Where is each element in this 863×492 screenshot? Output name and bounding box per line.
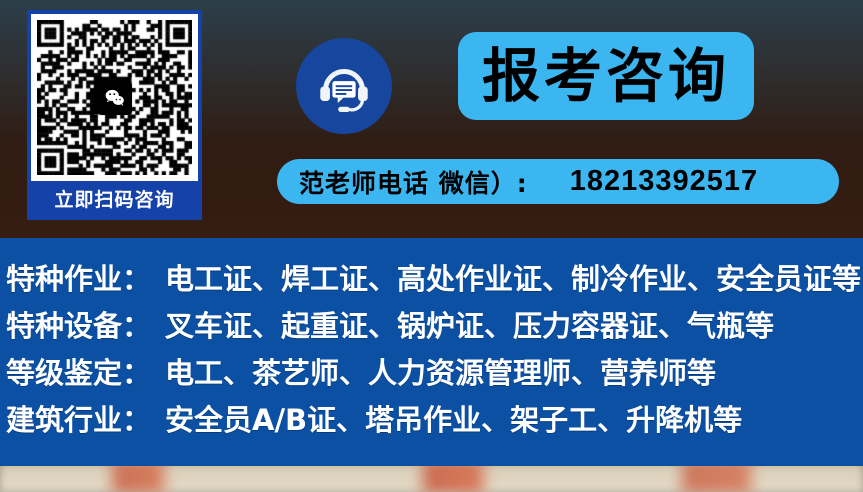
promo-poster: 立即扫码咨询 报考咨询 范老师电话 微信）: 18213392517 xyxy=(0,0,863,492)
category-row-special-equipment: 特种设备： 叉车证、起重证、锅炉证、压力容器证、气瓶等 xyxy=(6,303,857,350)
category-label: 等级鉴定： xyxy=(6,350,151,392)
category-label: 特种设备： xyxy=(6,303,151,345)
category-label: 建筑行业： xyxy=(6,397,151,439)
category-items: 电工证、焊工证、高处作业证、制冷作业、安全员证等 xyxy=(165,256,861,298)
category-row-special-operations: 特种作业： 电工证、焊工证、高处作业证、制冷作业、安全员证等 xyxy=(6,256,857,303)
certification-categories-panel: 特种作业： 电工证、焊工证、高处作业证、制冷作业、安全员证等 特种设备： 叉车证… xyxy=(0,238,863,466)
category-row-grade-appraisal: 等级鉴定： 电工、茶艺师、人力资源管理师、营养师等 xyxy=(6,350,857,397)
page-title-banner: 报考咨询 xyxy=(458,32,754,120)
contact-banner[interactable]: 范老师电话 微信）: 18213392517 xyxy=(277,159,839,204)
contact-phone-number[interactable]: 18213392517 xyxy=(570,165,758,198)
wechat-icon xyxy=(98,81,132,115)
category-items: 电工、茶艺师、人力资源管理师、营养师等 xyxy=(165,350,716,392)
category-items: 叉车证、起重证、锅炉证、压力容器证、气瓶等 xyxy=(165,303,774,345)
category-label: 特种作业： xyxy=(6,256,151,298)
page-title: 报考咨询 xyxy=(482,47,730,105)
qr-code-card[interactable]: 立即扫码咨询 xyxy=(27,10,202,220)
category-items: 安全员A/B证、塔吊作业、架子工、升降机等 xyxy=(165,397,742,439)
category-row-construction-industry: 建筑行业： 安全员A/B证、塔吊作业、架子工、升降机等 xyxy=(6,397,857,444)
qr-code-image[interactable] xyxy=(31,14,198,181)
background-ground-crane-legs xyxy=(0,462,863,492)
qr-caption-label: 立即扫码咨询 xyxy=(31,181,198,216)
headset-support-icon xyxy=(296,38,392,134)
contact-label: 范老师电话 微信）: xyxy=(299,164,528,200)
